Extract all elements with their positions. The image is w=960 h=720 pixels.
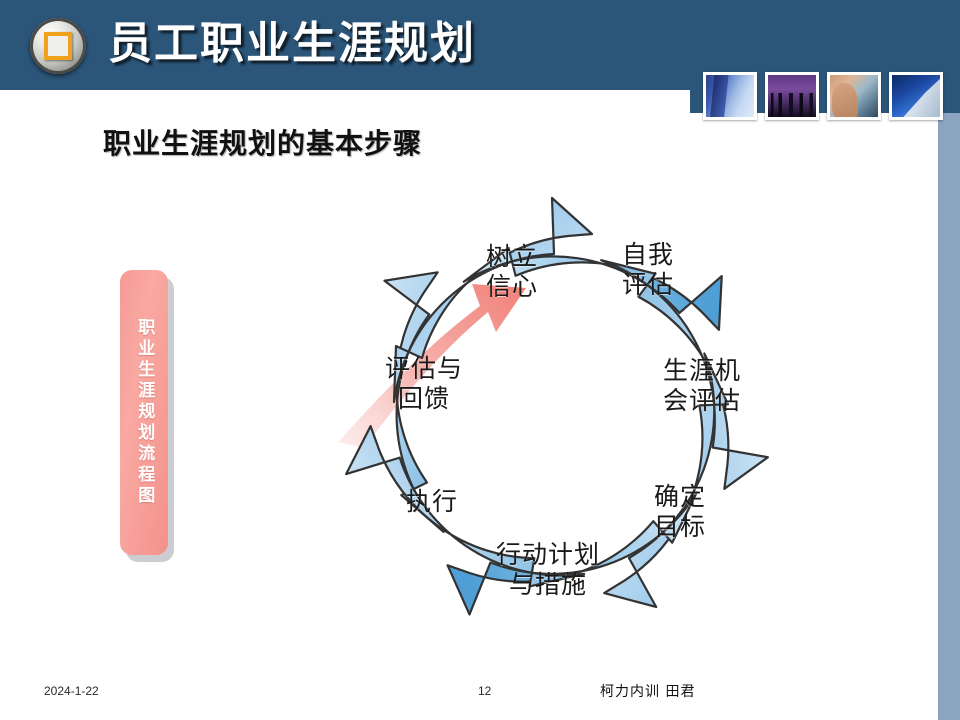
right-accent-band [938,113,960,720]
cycle-segment-5 [528,353,780,625]
logo-inner-square-icon [44,32,72,60]
circle-square-logo-icon [30,18,86,74]
phone-call-thumbnail [827,72,881,120]
cycle-diagram: 树立 信心 自我 评估 生涯机 会评估 确定 目标 行动计划 与措施 执行 评估… [330,180,780,650]
white-building-thumbnail [889,72,943,120]
entry-arrow-icon [338,284,526,448]
footer-page-number: 12 [478,684,491,698]
slide-canvas: 员工职业生涯规划 职业生涯规划的基本步骤 职业生涯规划流程图 [0,0,960,720]
section-subtitle: 职业生涯规划的基本步骤 [103,122,422,162]
process-side-label-text: 职业生涯规划流程图 [133,318,155,507]
footer-date: 2024-1-22 [44,684,99,698]
cycle-diagram-svg [330,180,780,650]
page-title: 员工职业生涯规划 [108,14,476,74]
cycle-segment-1 [330,250,568,532]
header-thumbnail-strip [703,72,943,120]
night-skyline-thumbnail [765,72,819,120]
process-side-label: 职业生涯规划流程图 [120,270,168,555]
process-side-label-body: 职业生涯规划流程图 [120,270,168,555]
glass-tower-thumbnail [703,72,757,120]
cycle-segment-6 [433,412,697,650]
footer-author: 柯力内训 田君 [600,681,695,701]
